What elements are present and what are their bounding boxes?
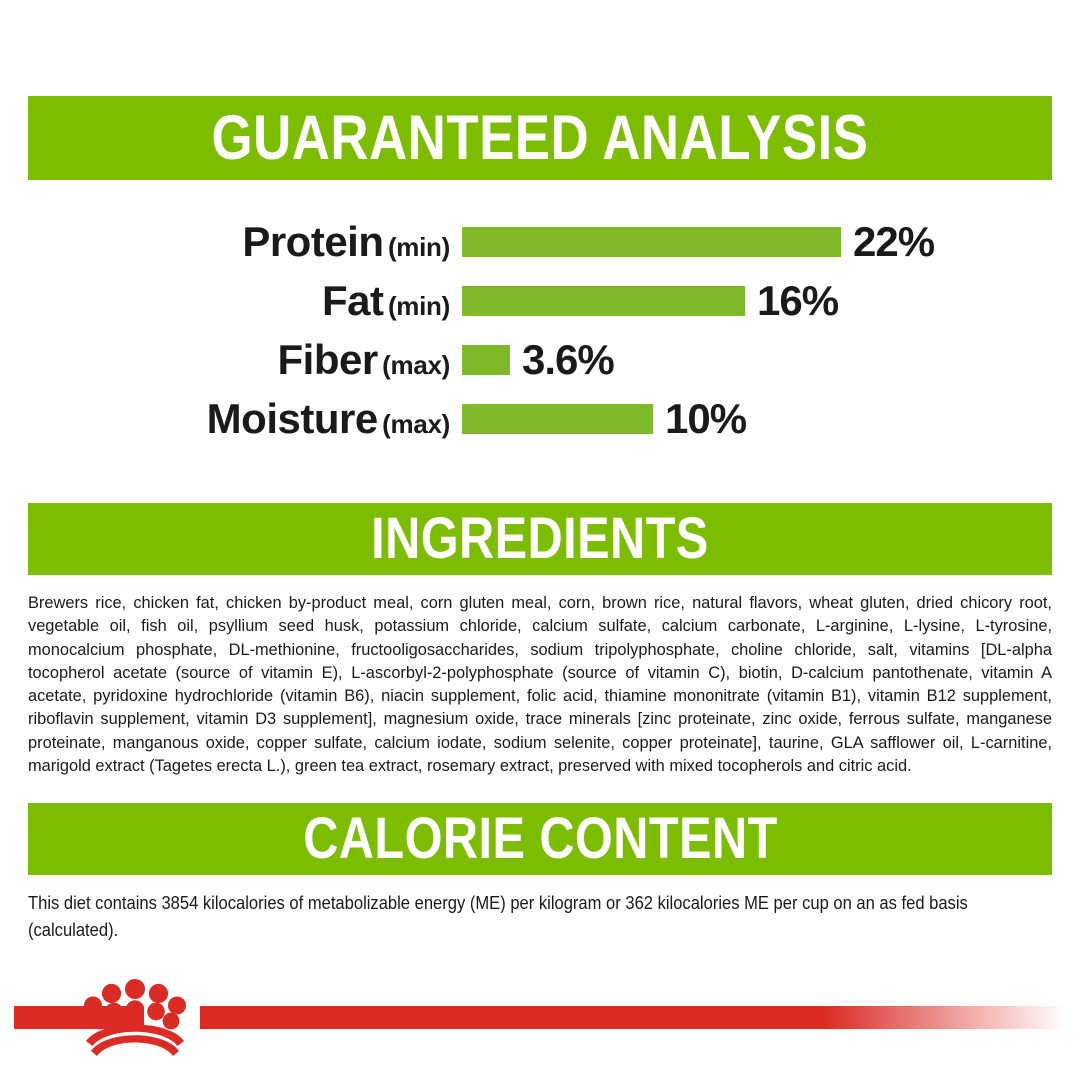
footer-brand-bar [0,0,1080,1080]
footer-rule-right [200,1006,1066,1029]
royal-canin-crown-icon [80,978,190,1060]
nutrition-panel: GUARANTEED ANALYSIS Protein (min) 22% Fa… [0,0,1080,1080]
